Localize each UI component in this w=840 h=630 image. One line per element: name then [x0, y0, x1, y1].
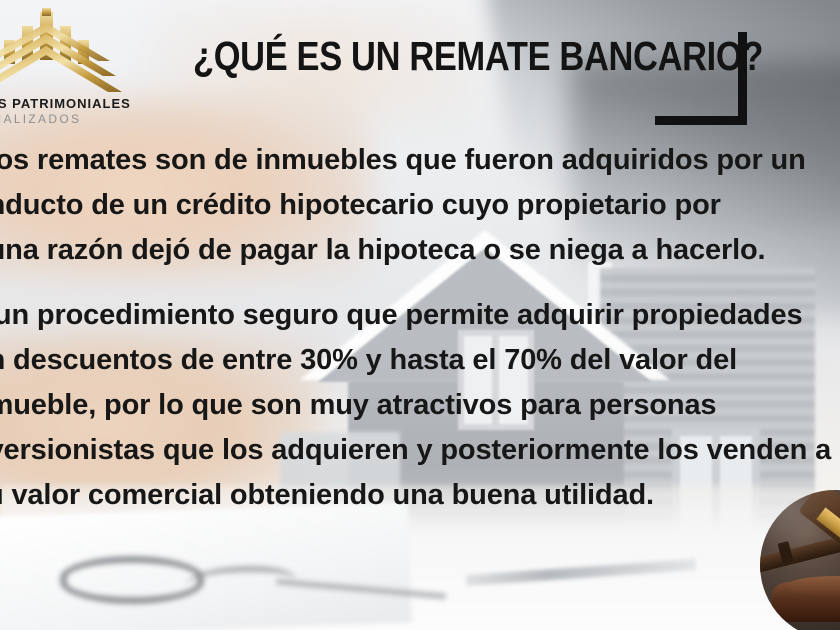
logo-company-name: TORES PATRIMONIALES: [0, 96, 131, 111]
body-copy: stos remates son de inmuebles que fueron…: [0, 138, 840, 518]
paragraph-line: guna razón dejó de pagar la hipoteca o s…: [0, 228, 840, 273]
paragraph-one: stos remates son de inmuebles que fueron…: [0, 138, 840, 273]
eyeglasses-lens-left: [60, 556, 204, 604]
building-chevron-logo-icon: [0, 6, 126, 98]
paragraph-line: on descuentos de entre 30% y hasta el 70…: [0, 338, 840, 383]
paragraph-line: su valor comercial obteniendo una buena …: [0, 473, 840, 518]
paragraph-two: s un procedimiento seguro que permite ad…: [0, 293, 840, 518]
bracket-vertical-stroke: [738, 32, 747, 125]
desk-paper: [0, 503, 412, 630]
paragraph-line: stos remates son de inmuebles que fueron…: [0, 138, 840, 183]
paragraph-line: nmueble, por lo que son muy atractivos p…: [0, 383, 840, 428]
corner-bracket-decoration: [655, 32, 747, 125]
gavel-highlight: [760, 490, 840, 550]
paragraph-line: onducto de un crédito hipotecario cuyo p…: [0, 183, 840, 228]
logo-company-tagline: SPECIALIZADOS: [0, 112, 81, 126]
paragraph-line: nversionistas que los adquieren y poster…: [0, 428, 840, 473]
gavel-photo-circle: [760, 490, 840, 630]
bracket-horizontal-stroke: [655, 116, 747, 125]
paragraph-line: s un procedimiento seguro que permite ad…: [0, 293, 840, 338]
brand-logo: TORES PATRIMONIALES SPECIALIZADOS: [0, 6, 126, 126]
poster-root: TORES PATRIMONIALES SPECIALIZADOS ¿QUÉ E…: [0, 0, 840, 630]
